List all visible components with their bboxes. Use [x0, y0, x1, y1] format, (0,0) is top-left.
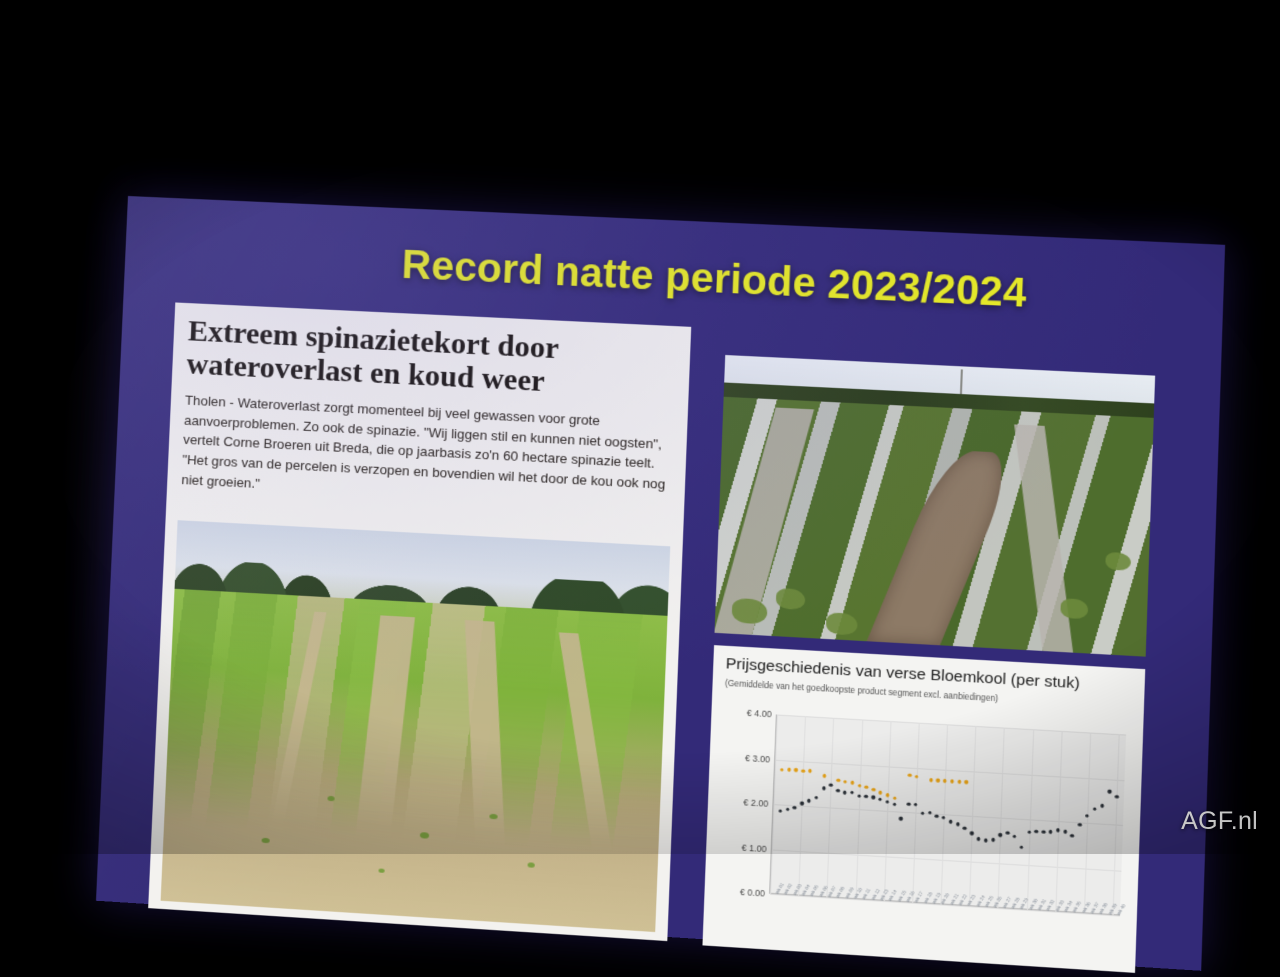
chart-data-point [1085, 814, 1089, 818]
chart-data-point [843, 791, 847, 795]
chart-data-point [850, 791, 854, 795]
chart-y-tick-label: € 2.00 [743, 797, 768, 809]
chart-data-point [1006, 831, 1010, 835]
price-history-chart-card: Prijsgeschiedenis van verse Bloemkool (p… [702, 645, 1145, 973]
chart-data-point [915, 775, 919, 779]
chart-gridline [777, 715, 1126, 736]
chart-gridline [775, 759, 1124, 781]
spinach-field-photo [161, 520, 671, 932]
chart-data-point [843, 780, 847, 784]
chart-data-point [886, 793, 890, 797]
chart-data-point [942, 816, 946, 820]
chart-data-point [1108, 790, 1112, 794]
chart-data-point [807, 799, 811, 803]
watermark: AGF.nl [1181, 807, 1258, 836]
photo-leaf [327, 796, 334, 802]
chart-data-point [780, 768, 784, 772]
chart-data-point [899, 817, 903, 821]
chart-plot-area: € 0.00€ 1.00€ 2.00€ 3.00€ 4.00 wk 01wk 0… [715, 705, 1132, 966]
chart-data-point [836, 789, 840, 793]
chart-data-point [936, 779, 940, 783]
chart-data-point [851, 781, 855, 785]
chart-data-point [1078, 823, 1082, 827]
chart-data-point [1100, 804, 1104, 808]
chart-gridline [773, 804, 1123, 826]
chart-data-point [786, 808, 790, 812]
chart-data-point [1093, 807, 1097, 811]
presentation-slide-wrapper: Record natte periode 2023/2024 Extreem s… [96, 196, 1225, 971]
chart-data-point [793, 806, 797, 810]
chart-data-point [885, 800, 889, 804]
chart-data-point [965, 780, 969, 784]
chart-data-point [829, 783, 833, 787]
slide-title: Record natte periode 2023/2024 [354, 240, 1077, 319]
chart-data-point [778, 809, 782, 813]
chart-data-point [935, 814, 939, 818]
chart-y-tick-label: € 0.00 [740, 887, 765, 899]
chart-data-point [1049, 830, 1053, 834]
chart-data-point [879, 791, 883, 795]
chart-gridline [772, 849, 1122, 871]
chart-data-point [984, 838, 988, 842]
chart-data-point [872, 787, 876, 791]
chart-data-point [1115, 795, 1119, 799]
chart-data-point [921, 811, 925, 815]
chart-data-point [1035, 830, 1039, 834]
chart-grid: wk 01wk 02wk 03wk 04wk 05wk 06wk 07wk 08… [769, 714, 1126, 915]
article-body-text: Tholen - Wateroverlast zorgt momenteel b… [167, 384, 688, 523]
chart-data-point [787, 768, 791, 772]
chart-data-point [943, 779, 947, 783]
chart-data-point [991, 838, 995, 842]
chart-data-point [914, 803, 918, 807]
chart-data-point [814, 796, 818, 800]
chart-data-point [950, 779, 954, 783]
chart-y-tick-label: € 3.00 [745, 752, 770, 764]
chart-data-point [822, 786, 826, 790]
chart-data-point [1027, 830, 1031, 834]
chart-data-point [864, 794, 868, 798]
chart-y-tick-label: € 4.00 [747, 708, 772, 720]
chart-data-point [929, 778, 933, 782]
chart-data-point [800, 802, 804, 806]
chart-data-point [908, 773, 912, 777]
news-article-card: Extreem spinazietekort door wateroverlas… [148, 302, 691, 941]
chart-data-point [865, 785, 869, 789]
photo-sandy-foreground [161, 733, 662, 932]
chart-y-tick-label: € 1.00 [742, 842, 767, 854]
chart-data-point [1020, 845, 1024, 849]
flooded-field-photo [715, 355, 1156, 657]
photo-leaf [378, 868, 384, 872]
projection-stage: Record natte periode 2023/2024 Extreem s… [0, 0, 1280, 854]
chart-data-point [858, 784, 862, 788]
chart-data-point [999, 833, 1003, 837]
chart-data-point [1013, 835, 1017, 839]
chart-data-point [794, 768, 798, 772]
chart-data-point [878, 797, 882, 801]
chart-data-point [1063, 830, 1067, 834]
chart-data-point [871, 796, 875, 800]
chart-data-point [907, 802, 911, 806]
chart-data-point [893, 796, 897, 800]
chart-data-point [970, 831, 974, 835]
chart-data-point [1042, 830, 1046, 834]
chart-data-point [977, 837, 981, 841]
presentation-slide: Record natte periode 2023/2024 Extreem s… [96, 196, 1225, 971]
chart-data-point [963, 826, 967, 830]
chart-data-point [957, 780, 961, 784]
chart-data-point [1056, 828, 1060, 832]
chart-data-point [808, 769, 812, 773]
chart-data-point [1070, 834, 1074, 838]
chart-data-point [892, 803, 896, 807]
photo-leaf [528, 862, 535, 868]
chart-data-point [801, 769, 805, 773]
chart-data-point [822, 774, 826, 778]
chart-data-point [949, 820, 953, 824]
chart-data-point [857, 794, 861, 798]
chart-data-point [836, 778, 840, 782]
chart-data-point [956, 822, 960, 826]
